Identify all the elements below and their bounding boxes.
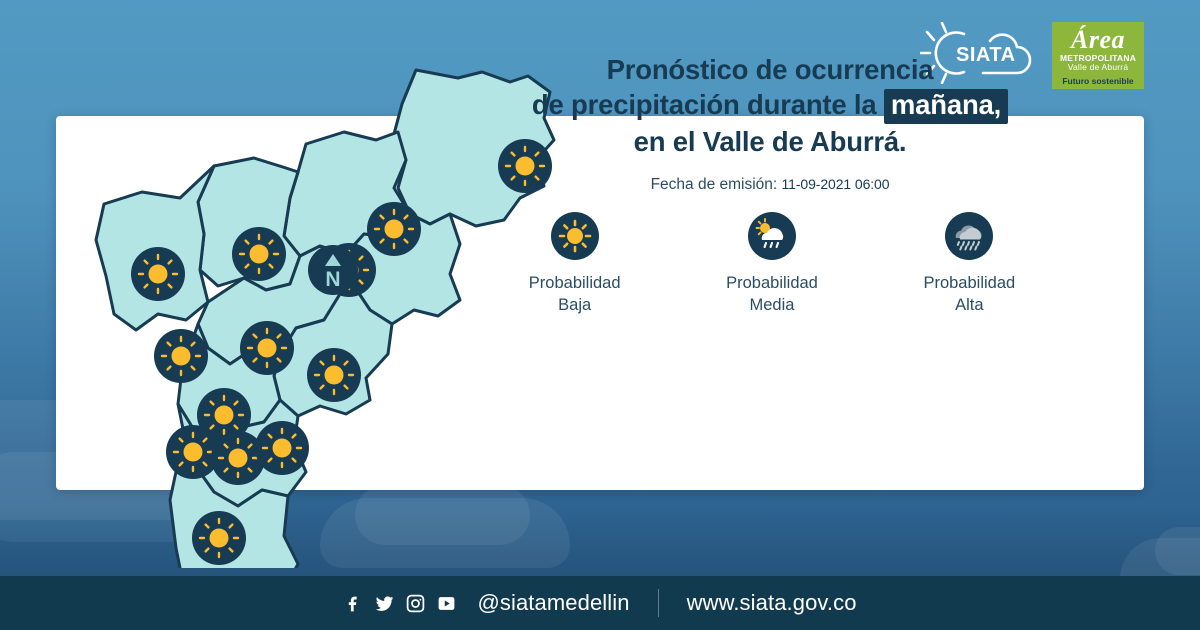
forecast-text-block: Pronóstico de ocurrencia de precipitació…	[460, 52, 1080, 194]
legend-media-line-1: Probabilidad	[726, 273, 818, 295]
emission-value: 11-09-2021 06:00	[782, 176, 890, 192]
headline-line-2-text: de precipitación durante la	[532, 89, 877, 120]
sun-icon	[551, 212, 599, 260]
emission-label: Fecha de emisión:	[651, 176, 778, 193]
legend-label-media: Probabilidad Media	[726, 273, 818, 317]
emission-row: Fecha de emisión: 11-09-2021 06:00	[460, 176, 1080, 194]
twitter-icon[interactable]	[374, 593, 395, 614]
background-cloud-right-2	[1155, 527, 1200, 575]
legend-baja-line-1: Probabilidad	[529, 273, 621, 295]
legend-item-alta: Probabilidad Alta	[871, 212, 1068, 317]
legend-label-baja: Probabilidad Baja	[529, 273, 621, 317]
background-cloud-center-2	[355, 485, 530, 545]
headline-line-3: en el Valle de Aburrá.	[460, 124, 1080, 159]
page-title: Pronóstico de ocurrencia de precipitació…	[460, 52, 1080, 159]
social-icons	[343, 593, 457, 614]
footer-divider	[658, 589, 659, 617]
probability-legend: Probabilidad Baja Probabilidad Media	[476, 212, 1068, 317]
social-handle[interactable]: @siatamedellin	[477, 590, 629, 616]
facebook-icon[interactable]	[343, 593, 364, 614]
background-band	[0, 505, 1200, 577]
headline-highlight: mañana,	[884, 89, 1008, 124]
legend-item-baja: Probabilidad Baja	[476, 212, 673, 317]
youtube-icon[interactable]	[436, 593, 457, 614]
website-url[interactable]: www.siata.gov.co	[687, 590, 857, 616]
footer-content: @siatamedellin www.siata.gov.co	[343, 589, 856, 617]
instagram-icon[interactable]	[405, 593, 426, 614]
legend-media-line-2: Media	[726, 295, 818, 317]
headline-line-2: de precipitación durante la mañana,	[460, 87, 1080, 124]
amva-script-text: Área	[1071, 27, 1125, 53]
legend-alta-line-1: Probabilidad	[923, 273, 1015, 295]
headline-line-1: Pronóstico de ocurrencia	[460, 52, 1080, 87]
footer-bar: @siatamedellin www.siata.gov.co	[0, 576, 1200, 630]
legend-baja-line-2: Baja	[529, 295, 621, 317]
rain-cloud-icon	[945, 212, 993, 260]
legend-label-alta: Probabilidad Alta	[923, 273, 1015, 317]
sun-rain-cloud-icon	[748, 212, 796, 260]
legend-alta-line-2: Alta	[923, 295, 1015, 317]
legend-item-media: Probabilidad Media	[673, 212, 870, 317]
